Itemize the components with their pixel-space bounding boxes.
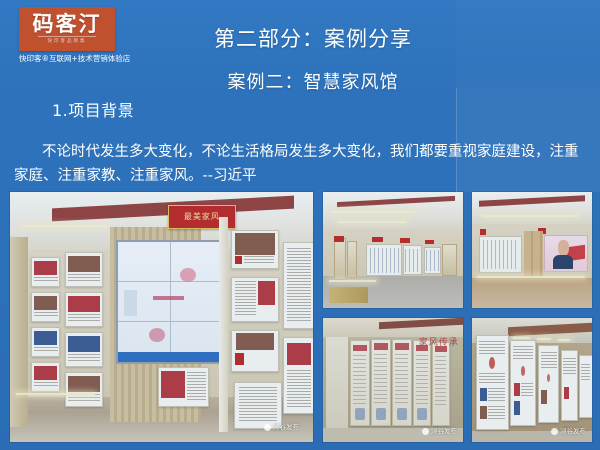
photo-grid: 最美家风 xyxy=(10,192,592,442)
photo-led-wall xyxy=(472,192,592,308)
watermark-dot-icon xyxy=(264,424,271,431)
photo-hall-corridor xyxy=(323,192,463,308)
photo-scrolls: 家风传承 浔谷发布 xyxy=(323,318,463,442)
photo-watermark: 浔谷发布 xyxy=(551,427,586,436)
slide-title-primary: 第二部分：案例分享 xyxy=(0,26,600,52)
watermark-text: 浔谷发布 xyxy=(273,423,299,432)
presentation-slide: 码客汀 快印客品牌集 快印客®互联网+技术营销体验店 第二部分：案例分享 案例二… xyxy=(0,0,600,450)
watermark-text: 浔谷发布 xyxy=(431,427,457,436)
photo-watermark: 浔谷发布 xyxy=(422,427,457,436)
photo-main-hall: 最美家风 xyxy=(10,192,313,442)
body-paragraph: 不论时代发生多大变化，不论生活格局发生多大变化，我们都要重视家庭建设，注重家庭、… xyxy=(14,140,592,188)
photo-panel-wall: 浔谷发布 xyxy=(472,318,592,442)
section-heading: 1.项目背景 xyxy=(52,100,134,122)
logo-tagline: 快印客®互联网+技术营销体验店 xyxy=(19,54,131,64)
slide-title-secondary: 案例二：智慧家风馆 xyxy=(0,71,600,95)
watermark-dot-icon xyxy=(551,428,558,435)
watermark-text: 浔谷发布 xyxy=(560,427,586,436)
watermark-dot-icon xyxy=(422,428,429,435)
photo-watermark: 浔谷发布 xyxy=(264,423,299,432)
